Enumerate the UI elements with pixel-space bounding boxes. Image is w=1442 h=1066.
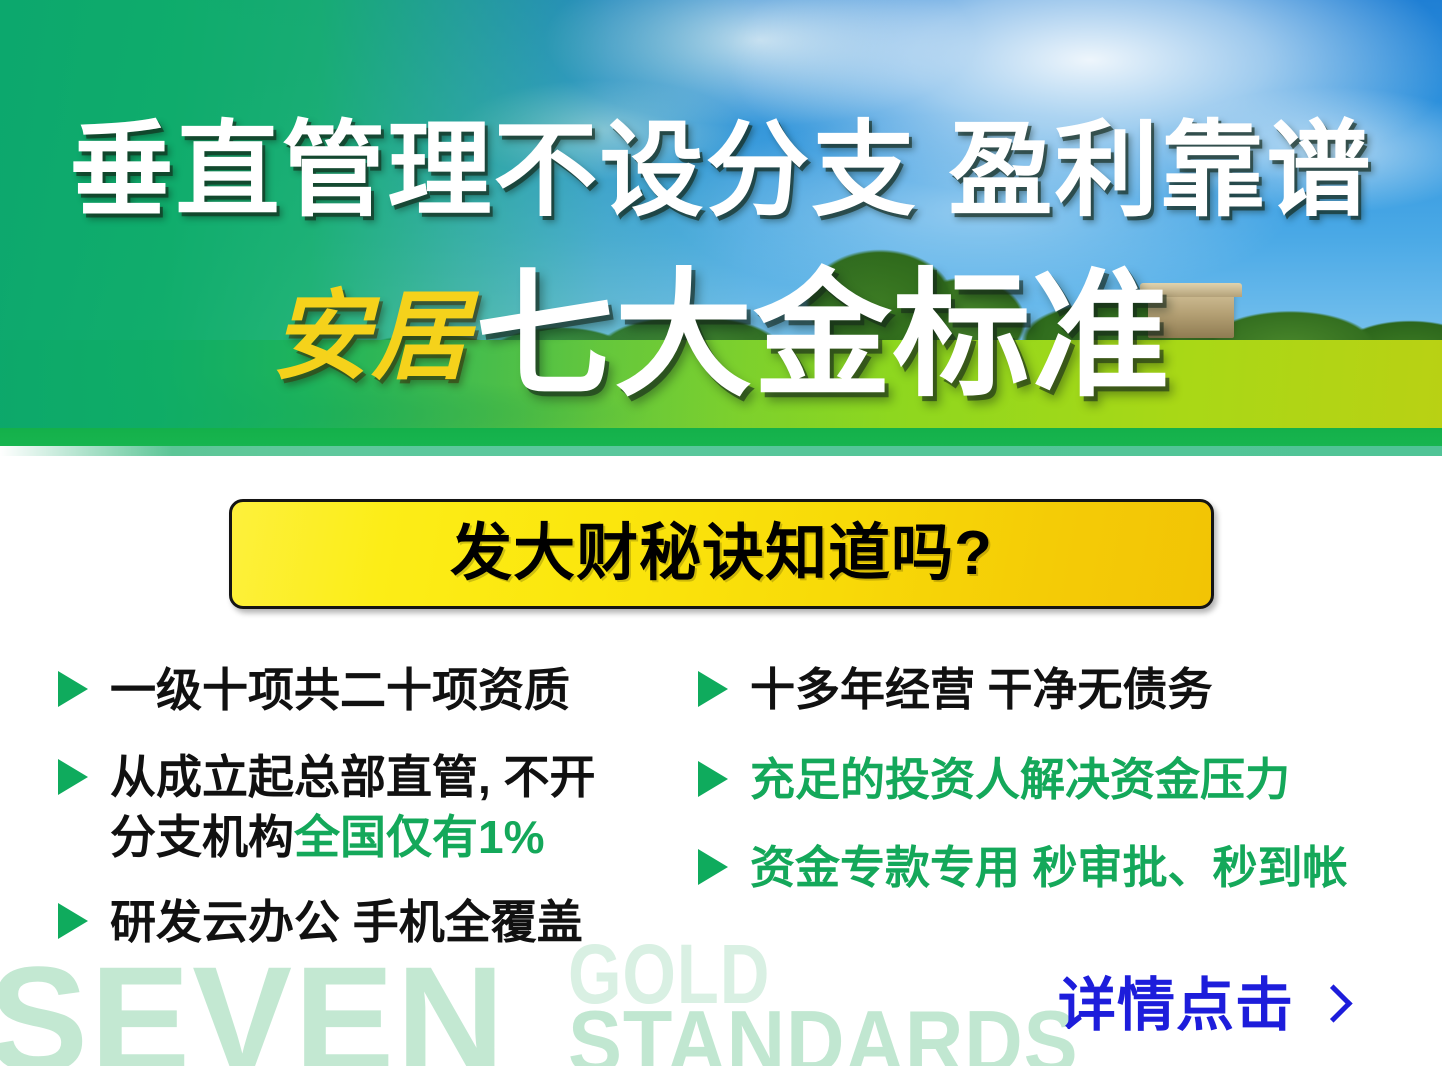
triangle-right-icon: [698, 761, 728, 797]
hero-banner: 垂直管理不设分支 盈利靠谱 安居七大金标准: [0, 0, 1442, 456]
feature-text: 充足的投资人解决资金压力: [750, 749, 1290, 811]
feature-text: 一级十项共二十项资质: [110, 659, 570, 721]
feature-item-qualifications: 一级十项共二十项资质: [58, 659, 698, 721]
feature-list: 一级十项共二十项资质 从成立起总部直管, 不开 分支机构全国仅有1% 研发云办公…: [0, 655, 1442, 985]
headline-question-banner[interactable]: 发大财秘诀知道吗?: [229, 499, 1214, 609]
feature-text: 研发云办公 手机全覆盖: [110, 891, 583, 953]
triangle-right-icon: [58, 759, 88, 795]
feature-text-highlight: 全国仅有1%: [294, 811, 544, 863]
chevron-right-icon: [1318, 984, 1340, 1028]
details-cta-label: 详情点击: [1058, 975, 1294, 1037]
feature-column-left: 一级十项共二十项资质 从成立起总部直管, 不开 分支机构全国仅有1% 研发云办公…: [58, 655, 698, 965]
feature-text: 资金专款专用 秒审批、秒到帐: [750, 837, 1348, 899]
feature-text-line-1: 从成立起总部直管, 不开: [110, 751, 596, 803]
feature-item-ten-years-no-debt: 十多年经营 干净无债务: [698, 659, 1398, 721]
feature-item-sufficient-investors: 充足的投资人解决资金压力: [698, 749, 1398, 811]
hero-subtitle-main: 七大金标准: [476, 268, 1171, 404]
feature-text-block: 从成立起总部直管, 不开 分支机构全国仅有1%: [110, 747, 596, 867]
hero-subtitle-brand: 安居: [271, 268, 471, 404]
feature-item-dedicated-funds: 资金专款专用 秒审批、秒到帐: [698, 837, 1398, 899]
feature-item-cloud-office: 研发云办公 手机全覆盖: [58, 891, 698, 953]
triangle-right-icon: [698, 671, 728, 707]
hero-subtitle: 安居七大金标准: [0, 268, 1442, 404]
promo-poster: 垂直管理不设分支 盈利靠谱 安居七大金标准 发大财秘诀知道吗? SEVEN GO…: [0, 0, 1442, 1066]
feature-item-hq-direct-management: 从成立起总部直管, 不开 分支机构全国仅有1%: [58, 747, 698, 867]
feature-text: 十多年经营 干净无债务: [750, 659, 1213, 721]
hero-headline: 垂直管理不设分支 盈利靠谱: [0, 112, 1442, 230]
hero-bottom-green-bar: [0, 428, 1442, 446]
triangle-right-icon: [698, 849, 728, 885]
triangle-right-icon: [58, 671, 88, 707]
watermark-standards: STANDARDS: [568, 998, 1079, 1066]
triangle-right-icon: [58, 903, 88, 939]
details-cta-link[interactable]: 详情点击: [1058, 975, 1340, 1037]
hero-bottom-fade-strip: [0, 446, 1442, 456]
feature-column-right: 十多年经营 干净无债务 充足的投资人解决资金压力 资金专款专用 秒审批、秒到帐: [698, 655, 1398, 911]
feature-text-line-2: 分支机构: [110, 811, 294, 863]
headline-question-text: 发大财秘诀知道吗?: [450, 522, 993, 586]
